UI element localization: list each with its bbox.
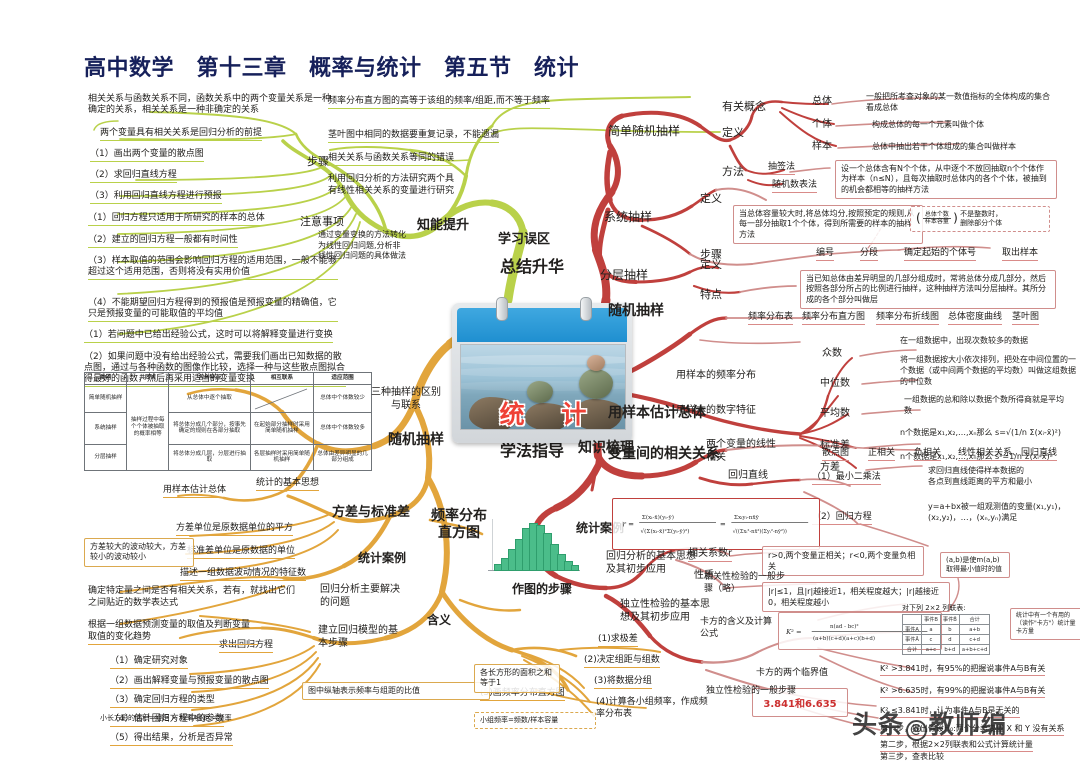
svg-text:√(Σ(xᵢ-x̄)²Σ(yᵢ-ȳ)²): √(Σ(xᵢ-x̄)²Σ(yᵢ-ȳ)²) bbox=[640, 528, 689, 535]
smp-h1: 共同点 bbox=[127, 373, 169, 385]
gold-label-build-model: 建立回归模型的基本步骤 bbox=[318, 624, 402, 650]
sampling-comparison-table: 类别 共同点 各自特点 相互联系 适应范围 简单随机抽样 抽样过程中每个个体被抽… bbox=[84, 372, 372, 471]
gold-case-item-1: 根据一组数据预测变量的取值及判断变量取值的变化趋势 bbox=[88, 619, 258, 645]
stat-mode-desc: 在一组数据中，出现次数较多的数据 bbox=[900, 336, 1028, 346]
reg-item-least-squares: （1）最小二乘法 bbox=[812, 472, 881, 485]
ct-h2: 事件B̄ bbox=[940, 615, 959, 625]
ct-r1c1: c bbox=[921, 635, 940, 645]
ct-r0c0: 事件A bbox=[903, 625, 922, 635]
calendar-ring-left bbox=[496, 297, 508, 321]
frequency-histogram-thumbnail bbox=[488, 515, 580, 577]
meaning-box-2: 各长方形的面积之和等于1 bbox=[474, 664, 560, 693]
contingency-caption: 对下列 2×2 列联表: bbox=[902, 604, 966, 613]
smp-r2c4: 总体由差异明显的几部分组成 bbox=[314, 444, 372, 470]
gold-variance-item-1: 标准差单位是原数据的单位 bbox=[187, 546, 295, 559]
method-lottery: 抽签法 bbox=[768, 162, 795, 175]
simple-random-method-label: 方法 bbox=[722, 165, 744, 178]
calendar-photo: 统 计 bbox=[460, 344, 626, 430]
ct-r1c2: d bbox=[940, 635, 959, 645]
reg-box-text2: y=a+bx被一组观测值的变量(x₁,y₁)，(x₂,y₂)，…，(xₙ,yₙ)… bbox=[928, 502, 1074, 524]
concept-individual-label: 个体 bbox=[812, 119, 832, 131]
ct-r0c3: a+b bbox=[959, 625, 990, 635]
freq-item-4: 茎叶图 bbox=[1012, 312, 1039, 325]
calendar-header-bar bbox=[457, 308, 627, 342]
gold-reg-step-0: （1）确定研究对象 bbox=[110, 656, 188, 669]
smp-r0c2: 从总体中逐个抽取 bbox=[169, 384, 250, 412]
simple-random-def-label: 定义 bbox=[722, 126, 744, 139]
reg-box-text: 求回归直线使得样本数据的各点到直线距离的平方和最小 bbox=[928, 466, 1074, 488]
red-hub-estimate-population: 用样本估计总体 bbox=[608, 405, 670, 422]
smp-r2c2: 将总体分成几层，分层进行抽取 bbox=[169, 444, 250, 470]
simple-random-title: 简单随机抽样 bbox=[608, 124, 680, 139]
numeric-label: 用样本的数字特征 bbox=[676, 405, 756, 417]
histogram-y-axis bbox=[492, 519, 493, 571]
systematic-note-box: ( 总体个数样本容量 ) 不是整数时，删除部分个体 bbox=[910, 206, 1050, 232]
green-sublabel-steps: 步骤 bbox=[307, 155, 329, 168]
smp-r2c3: 各层抽样时采用简单随机抽样 bbox=[250, 444, 314, 470]
correlation-test-steps: 相关性检验的一般步骤（略） bbox=[704, 572, 790, 595]
svg-text:=: = bbox=[720, 520, 726, 529]
red-hub-random-sampling: 随机抽样 bbox=[608, 303, 648, 320]
contingency-table: 事件B 事件B̄ 合计 事件A a b a+b 事件Ā c d c+d 合计 a… bbox=[902, 614, 1008, 655]
regression-case-label: 回归分析的基本思想及其初步应用 bbox=[606, 550, 696, 576]
gold-case-item-0: 确定特定量之间是否有相关关系，若有，就找出它们之间贴近的数学表达式 bbox=[88, 585, 296, 609]
svg-text:n(ad - bc)²: n(ad - bc)² bbox=[830, 623, 859, 630]
center-calendar-widget: 统 计 bbox=[452, 303, 632, 443]
gold-reg-step-4: （5）得出结果，分析是否异常 bbox=[110, 733, 233, 746]
green-item-9: （1）若问题中已给出经验公式，这时可以将解释变量进行变换 bbox=[84, 330, 333, 343]
green-right-item-2: 相关关系与函数关系等同的错误 bbox=[328, 153, 454, 166]
smp-r1c4: 总体中个体数较多 bbox=[314, 412, 372, 444]
watermark-right: 教师编 bbox=[929, 710, 1007, 739]
freq-dist-label: 用样本的频率分布 bbox=[676, 370, 756, 382]
ct-r1c0: 事件Ā bbox=[903, 635, 922, 645]
freq-item-2: 频率分布折线图 bbox=[876, 312, 939, 325]
systematic-step-1: 分段 bbox=[860, 248, 878, 261]
green-item-1: 两个变量具有相关关系是回归分析的前提 bbox=[100, 128, 262, 141]
chi-square-meaning-label: 卡方的含义及计算公式 bbox=[700, 616, 774, 640]
mindmap-canvas: 高中数学 第十三章 概率与统计 第五节 统计 相关关系与函数关系不同，函数关系中… bbox=[0, 0, 1080, 762]
gold-label-histogram: 频率分布直方图 bbox=[430, 508, 488, 542]
green-hub-mistakes: 学习误区 bbox=[498, 232, 550, 248]
method-random-table: 随机数表法 bbox=[772, 180, 817, 193]
page-title: 高中数学 第十三章 概率与统计 第五节 统计 bbox=[84, 56, 579, 83]
simple-random-def-box: 设一个总体含有N个个体，从中逐个不放回抽取n个个体作为样本（n≤N），且每次抽取… bbox=[835, 160, 1057, 199]
smp-h0: 类别 bbox=[85, 373, 127, 385]
stat-sd-desc: n个数据是x₁,x₂,…,xₙ那么 s=√(1/n Σ(xᵢ-x̄)²) bbox=[900, 428, 1076, 438]
linear-correlation-label: 两个变量的线性相关 bbox=[706, 438, 778, 464]
systematic-title: 系统抽样 bbox=[604, 210, 652, 225]
correlation-coefficient-formula-box: r = Σ(xᵢ-x̄)(yᵢ-ȳ) √(Σ(xᵢ-x̄)²Σ(yᵢ-ȳ)²) … bbox=[612, 498, 820, 550]
smp-h4: 适应范围 bbox=[314, 373, 372, 385]
gold-variance-item-0: 方差单位是原数据单位的平方 bbox=[176, 523, 293, 536]
svg-text:√((Σxᵢ²-nx̄²)(Σyᵢ²-nȳ²)): √((Σxᵢ²-nx̄²)(Σyᵢ²-nȳ²)) bbox=[733, 528, 787, 535]
reg-box-ab: (a,b)是使m(a,b)取得最小值时的值 bbox=[940, 552, 1010, 578]
histogram-step-1: (2)决定组距与组数 bbox=[584, 655, 660, 668]
systematic-step-0: 编号 bbox=[816, 248, 834, 261]
ct-h1: 事件B bbox=[921, 615, 940, 625]
smp-r1c0: 系统抽样 bbox=[85, 412, 127, 444]
smp-r0c0: 简单随机抽样 bbox=[85, 384, 127, 412]
indep-step-2: 第三步，查表比较 bbox=[880, 752, 944, 762]
green-sublabel-notes: 注意事项 bbox=[300, 215, 344, 228]
green-item-2: （1）画出两个变量的散点图 bbox=[90, 149, 204, 162]
svg-text:(a+b)(c+d)(a+c)(b+d): (a+b)(c+d)(a+c)(b+d) bbox=[813, 635, 875, 642]
gold-variance-box: 方差较大的波动较大，方差较小的波动较小 bbox=[84, 538, 194, 567]
chi-critical-value: 3.841和6.635 bbox=[763, 699, 836, 710]
gold-label-estimate: 用样本估计总体 bbox=[163, 485, 226, 498]
gold-hub-random-sampling: 随机抽样 bbox=[388, 432, 444, 449]
calendar-ring-right bbox=[580, 297, 592, 321]
svg-text:r =: r = bbox=[623, 520, 635, 529]
concept-population-label: 总体 bbox=[812, 96, 832, 108]
center-caption: 统 计 bbox=[461, 395, 625, 430]
concept-sample-label: 样本 bbox=[812, 141, 832, 153]
freq-item-0: 频率分布表 bbox=[748, 312, 793, 325]
freq-item-1: 频率分布直方图 bbox=[802, 312, 865, 325]
green-item-8: （4）不能期望回归方程得到的预报值是预报变量的精确值，它只是预报变量的可能取值的… bbox=[88, 298, 338, 322]
chi-critical-label: 卡方的两个临界值 bbox=[756, 668, 828, 679]
watermark-at: @ bbox=[906, 720, 927, 741]
gold-reg-step-1: （2）画出解释变量与预报变量的散点图 bbox=[110, 676, 269, 689]
green-root-summary: 总结升华 bbox=[500, 258, 544, 276]
green-item-0: 相关关系与函数关系不同，函数关系中的两个变量关系是一种确定的关系，相关关系是一种… bbox=[88, 94, 336, 116]
systematic-step-3: 取出样本 bbox=[1002, 248, 1038, 261]
green-item-6: （2）建立的回归方程一般都有时间性 bbox=[88, 235, 238, 248]
svg-text:Σxᵢyᵢ-nx̄ȳ: Σxᵢyᵢ-nx̄ȳ bbox=[734, 514, 760, 521]
gold-hub-study-guide: 学法指导 bbox=[500, 442, 544, 460]
green-right-item-3: 利用回归分析的方法研究两个具有线性相关关系的变量进行研究 bbox=[328, 173, 456, 197]
simple-random-concepts-label: 有关概念 bbox=[722, 100, 766, 113]
diag-line bbox=[251, 385, 311, 411]
green-item-4: （3）利用回归直线方程进行预报 bbox=[90, 191, 222, 204]
systematic-def-box: 当总体容量较大时,将总体均分,按照预定的规则,从每一部分抽取1个个体，得到所需要… bbox=[733, 205, 923, 244]
concept-individual-desc: 构成总体的每一个元素叫做个体 bbox=[872, 120, 984, 130]
green-note-box: 通过变量变换的方法转化为线性回归问题,分析非线性回归问题的具体做法 bbox=[318, 230, 406, 262]
gold-label-meaning: 含义 bbox=[427, 613, 451, 628]
stat-median-label: 中位数 bbox=[820, 378, 850, 390]
corr-scatter: 散点图 bbox=[822, 448, 849, 461]
gold-label-regression-problem: 回归分析主要解决的问题 bbox=[320, 583, 404, 609]
gold-reg-step-2: （3）确定回归方程的类型 bbox=[110, 695, 215, 708]
stat-mean-label: 平均数 bbox=[820, 408, 850, 420]
green-right-item-0: 频率分布直方图的高等于该组的频率/组距,而不等于频率 bbox=[328, 96, 550, 109]
gold-label-variance-sd: 方差与标准差 bbox=[332, 505, 410, 521]
smp-h3: 相互联系 bbox=[250, 373, 314, 385]
stat-median-desc: 将一组数据按大小依次排列，把处在中间位置的一个数据（或中间两个数据的平均数）叫做… bbox=[900, 354, 1076, 387]
smp-r2c0: 分层抽样 bbox=[85, 444, 127, 470]
systematic-def-label: 定义 bbox=[700, 192, 722, 205]
corr-positive: 正相关 bbox=[868, 448, 895, 461]
green-right-item-1: 茎叶图中相同的数据要重复记录，不能遗漏 bbox=[328, 130, 499, 143]
ct-r2c3: a+b+c+d bbox=[959, 645, 990, 655]
red-hub-knowledge-outline: 知识梳理 bbox=[578, 440, 610, 457]
indep-step-1: 第二步，根据2×2列联表和公式计算统计量 bbox=[880, 740, 1033, 752]
corr-negative: 负相关 bbox=[914, 448, 941, 461]
green-hub-knowledge: 知能提升 bbox=[417, 218, 469, 234]
gold-variance-item-2: 描述一组数据波动情况的特征数 bbox=[180, 568, 306, 581]
smp-r0c4: 总体中个体数较少 bbox=[314, 384, 372, 412]
ct-r0c1: a bbox=[921, 625, 940, 635]
r-formula-svg: r = Σ(xᵢ-x̄)(yᵢ-ȳ) √(Σ(xᵢ-x̄)²Σ(yᵢ-ȳ)²) … bbox=[620, 504, 812, 544]
ct-h0 bbox=[903, 615, 922, 625]
concept-population-desc: 一般把所考查对象的某一数值指标的全体构成的集合看成总体 bbox=[866, 92, 1054, 114]
meaning-box-3: 小长方形的面积=组距 × 频率/组距 =频率 bbox=[100, 714, 232, 723]
meaning-box-4: 小组频率=频数/样本容量 bbox=[474, 712, 596, 729]
smp-r1c2: 将总体分成几个部分，按事先确定的规则在各部分抽取 bbox=[169, 412, 250, 444]
watermark: 头条@教师编 bbox=[852, 705, 1007, 741]
ct-r2c0: 合计 bbox=[903, 645, 922, 655]
ct-r2c1: a+c bbox=[921, 645, 940, 655]
systematic-step-2: 确定起始的个体号 bbox=[904, 248, 976, 261]
freq-item-3: 总体密度曲线 bbox=[948, 312, 1002, 325]
smp-r0c1: 抽样过程中每个个体被抽取的概率相等 bbox=[127, 384, 169, 470]
gold-label-three-sampling: 三种抽样的区别与联系 bbox=[368, 386, 444, 412]
stratified-feature-label: 特点 bbox=[700, 288, 722, 301]
histogram-step-2: (3)将数据分组 bbox=[594, 676, 652, 689]
r-coefficient-label: 相关系数r bbox=[688, 548, 732, 562]
chi-rule-1: K² >6.635时，有99%的把握说事件A与B有关 bbox=[880, 686, 1045, 698]
independence-steps-label: 独立性检验的一般步骤 bbox=[706, 686, 796, 697]
gold-label-draw-steps: 作图的步骤 bbox=[512, 582, 572, 597]
gold-label-basic-idea: 统计的基本思想 bbox=[256, 478, 319, 491]
ct-r2c2: b+d bbox=[940, 645, 959, 655]
reg-item-equation: （2）回归方程 bbox=[812, 512, 872, 525]
stratified-def-label: 定义 bbox=[700, 258, 722, 271]
histogram-step-0: (1)求极差 bbox=[598, 634, 638, 647]
green-item-7: （3）样本取值的范围会影响回归方程的适用范围，一般不能够超过这个适用范围，否则将… bbox=[88, 256, 338, 280]
svg-text:K² =: K² = bbox=[785, 628, 801, 636]
ct-h3: 合计 bbox=[959, 615, 990, 625]
histogram-step-3: (4)计算各小组频率，作成频率分布表 bbox=[596, 697, 712, 721]
stat-mean-desc: 一组数据的总和除以数据个数所得商就是平均数 bbox=[904, 394, 1064, 416]
concept-sample-desc: 总体中抽出若干个体组成的集合叫做样本 bbox=[872, 142, 1016, 152]
contingency-note-box: 统计中有一个有用的（读作"卡方"）统计量卡方量 bbox=[1010, 608, 1080, 640]
stratified-def-box: 当已知总体由差异明显的几部分组成时，常将总体分成几部分，然后按照各部分所占的比例… bbox=[800, 270, 1056, 309]
gold-label-case: 统计案例 bbox=[358, 551, 406, 566]
corr-linear-regline: 线性相关关系、回归直线 bbox=[958, 448, 1057, 461]
regression-line-label: 回归直线 bbox=[728, 470, 768, 482]
stratified-title: 分层抽样 bbox=[600, 268, 648, 283]
green-item-3: （2）求回归直线方程 bbox=[90, 170, 177, 183]
ct-r1c3: c+d bbox=[959, 635, 990, 645]
ratio-fraction: 总体个数样本容量 bbox=[923, 212, 951, 226]
stat-mode-label: 众数 bbox=[822, 348, 842, 360]
smp-r0c3 bbox=[250, 384, 314, 412]
meaning-box-1: 图中纵轴表示频率与组距的比值 bbox=[302, 682, 490, 700]
smp-r1c3: 在起始部分抽样时采用简单随机抽样 bbox=[250, 412, 314, 444]
svg-text:Σ(xᵢ-x̄)(yᵢ-ȳ): Σ(xᵢ-x̄)(yᵢ-ȳ) bbox=[642, 514, 674, 521]
chi-rule-0: K² >3.841时，有95%的把握说事件A与B有关 bbox=[880, 664, 1045, 676]
green-item-5: （1）回归方程只适用于所研究的样本的总体 bbox=[88, 213, 265, 226]
watermark-left: 头条 bbox=[852, 710, 904, 739]
smp-h2: 各自特点 bbox=[169, 373, 250, 385]
ct-r0c2: b bbox=[940, 625, 959, 635]
